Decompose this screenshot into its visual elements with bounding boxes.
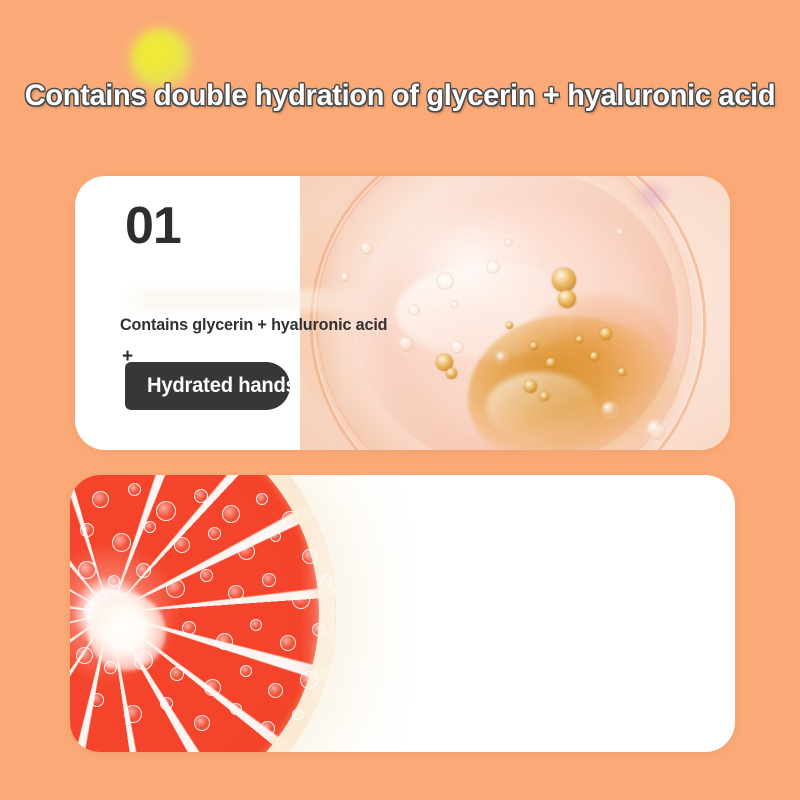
water-bubble xyxy=(280,635,296,651)
water-bubble xyxy=(260,721,275,736)
water-bubble xyxy=(222,505,240,523)
water-bubble xyxy=(160,697,173,710)
benefit-badge-01[interactable]: Hydrated hands xyxy=(125,362,290,410)
gel-bubble xyxy=(646,420,666,440)
water-bubble xyxy=(156,501,176,521)
gel-bubble xyxy=(602,402,617,417)
card-number-01: 01 xyxy=(125,200,181,252)
feature-card-01-text: 01 Contains glycerin + hyaluronic acid +… xyxy=(75,176,405,450)
gel-bubble xyxy=(450,340,464,354)
water-bubble xyxy=(166,579,185,598)
gel-gold-bubble xyxy=(552,268,576,292)
water-bubble xyxy=(112,533,131,552)
gel-bubble xyxy=(450,300,459,309)
water-bubble xyxy=(116,617,134,635)
gel-gold-bubble xyxy=(446,368,457,379)
water-bubble xyxy=(104,661,117,674)
water-bubble xyxy=(134,651,153,670)
feature-card-01[interactable]: 01 Contains glycerin + hyaluronic acid +… xyxy=(75,176,730,450)
gel-bubble xyxy=(408,304,420,316)
water-bubble xyxy=(268,683,283,698)
card-subtitle-01: Contains glycerin + hyaluronic acid xyxy=(120,315,387,335)
feature-card-02[interactable]: 02 Add vitamin C derivative + Clean care xyxy=(70,475,735,752)
water-bubble xyxy=(194,715,210,731)
product-feature-page: Contains double hydration of glycerin + … xyxy=(0,0,800,800)
water-bubble xyxy=(174,537,190,553)
water-bubble xyxy=(78,561,96,579)
gel-gold-bubble xyxy=(576,336,583,343)
gel-bubble xyxy=(616,228,625,237)
water-bubble xyxy=(208,527,221,540)
feature-card-02-text: 02 Add vitamin C derivative + Clean care xyxy=(405,475,735,752)
gel-gold-bubble xyxy=(524,380,537,393)
water-bubble xyxy=(250,619,262,631)
water-bubble xyxy=(240,665,252,677)
water-bubble xyxy=(262,573,276,587)
gel-bubble xyxy=(486,260,500,274)
fruit-right-fade xyxy=(300,475,420,752)
grapefruit-slice-photo xyxy=(70,475,420,752)
gel-gold-bubble xyxy=(618,368,626,376)
water-bubble xyxy=(200,569,213,582)
water-bubble xyxy=(270,531,281,542)
gel-gold-bubble xyxy=(530,342,538,350)
page-headline: Contains double hydration of glycerin + … xyxy=(14,79,786,113)
water-bubble xyxy=(170,667,184,681)
water-bubble xyxy=(144,521,156,533)
water-bubble xyxy=(84,603,99,618)
water-bubble xyxy=(230,703,242,715)
gel-gold-bubble xyxy=(546,358,556,368)
water-bubble xyxy=(124,705,142,723)
water-bubble xyxy=(256,493,268,505)
water-bubble xyxy=(128,483,141,496)
water-bubble xyxy=(90,693,104,707)
gel-gold-bubble xyxy=(590,352,599,361)
gel-gold-bubble xyxy=(506,322,513,329)
water-bubble xyxy=(216,633,233,650)
water-bubble xyxy=(136,563,151,578)
water-bubble xyxy=(282,511,298,527)
gel-gold-bubble xyxy=(600,328,612,340)
gel-violet-tint xyxy=(636,182,670,208)
water-bubble xyxy=(80,523,94,537)
gel-bubble xyxy=(496,352,507,363)
gel-gold-bubble xyxy=(558,290,576,308)
water-bubble xyxy=(182,621,196,635)
water-bubble xyxy=(194,489,208,503)
water-bubble xyxy=(92,491,109,508)
gel-gold-bubble xyxy=(540,392,549,401)
water-bubble xyxy=(228,585,244,601)
gel-bubble xyxy=(436,272,454,290)
water-bubble xyxy=(238,543,255,560)
water-bubble xyxy=(108,575,120,587)
gel-highlight-streak-lower xyxy=(486,372,596,442)
water-bubble xyxy=(204,679,221,696)
gel-bubble xyxy=(504,238,513,247)
ghost-watermark xyxy=(122,289,372,311)
benefit-badge-label-01: Hydrated hands xyxy=(147,374,297,398)
water-bubble xyxy=(76,647,93,664)
plus-icon: + xyxy=(122,347,133,366)
